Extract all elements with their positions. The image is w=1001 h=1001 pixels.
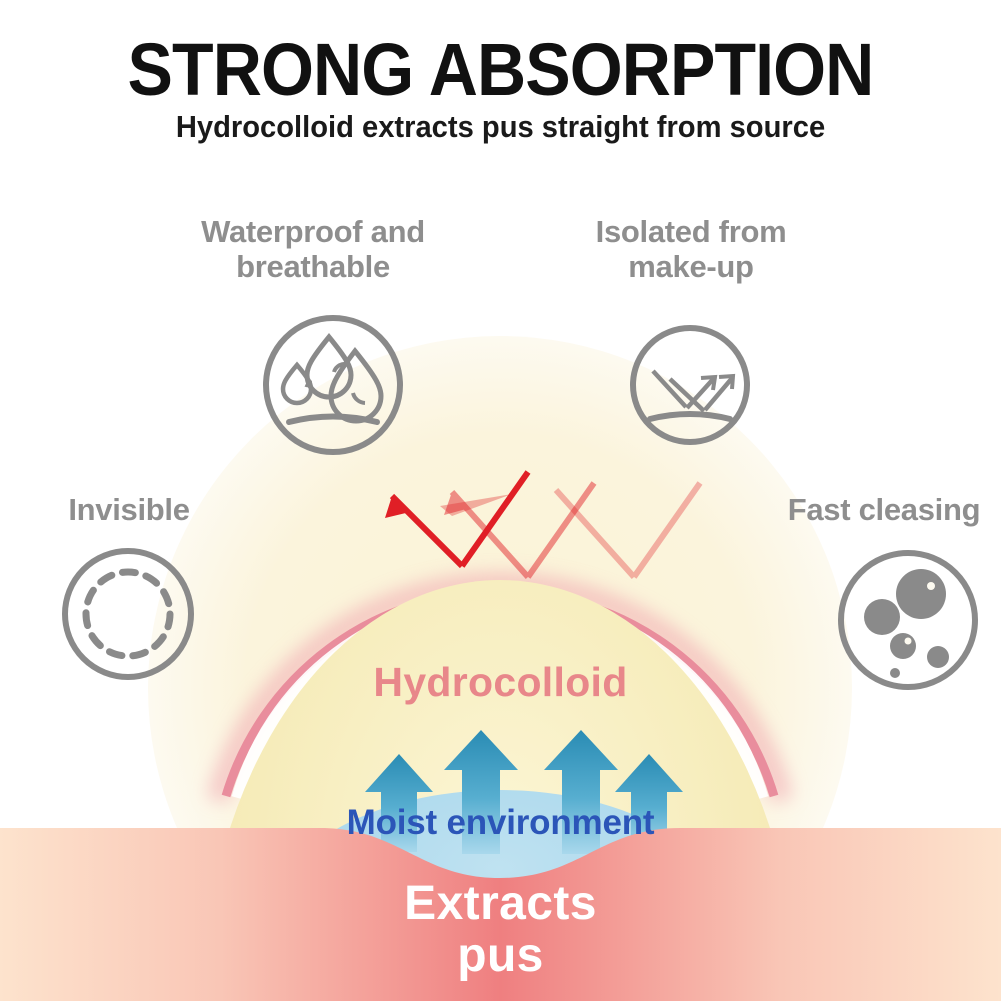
moist-environment-label: Moist environment [0, 802, 1001, 844]
feature-label-waterproof: Waterproof and breathable [148, 214, 478, 284]
feature-label-cleansing: Fast cleasing [766, 492, 1001, 527]
hydrocolloid-label: Hydrocolloid [0, 658, 1001, 706]
feature-label-invisible: Invisible [18, 492, 240, 527]
extracts-pus-label: Extracts pus [0, 878, 1001, 982]
page-title: STRONG ABSORPTION [40, 28, 961, 112]
infographic-canvas: STRONG ABSORPTION Hydrocolloid extracts … [0, 0, 1001, 1001]
feature-label-makeup: Isolated from make-up [560, 214, 822, 284]
page-subtitle: Hydrocolloid extracts pus straight from … [30, 108, 971, 146]
